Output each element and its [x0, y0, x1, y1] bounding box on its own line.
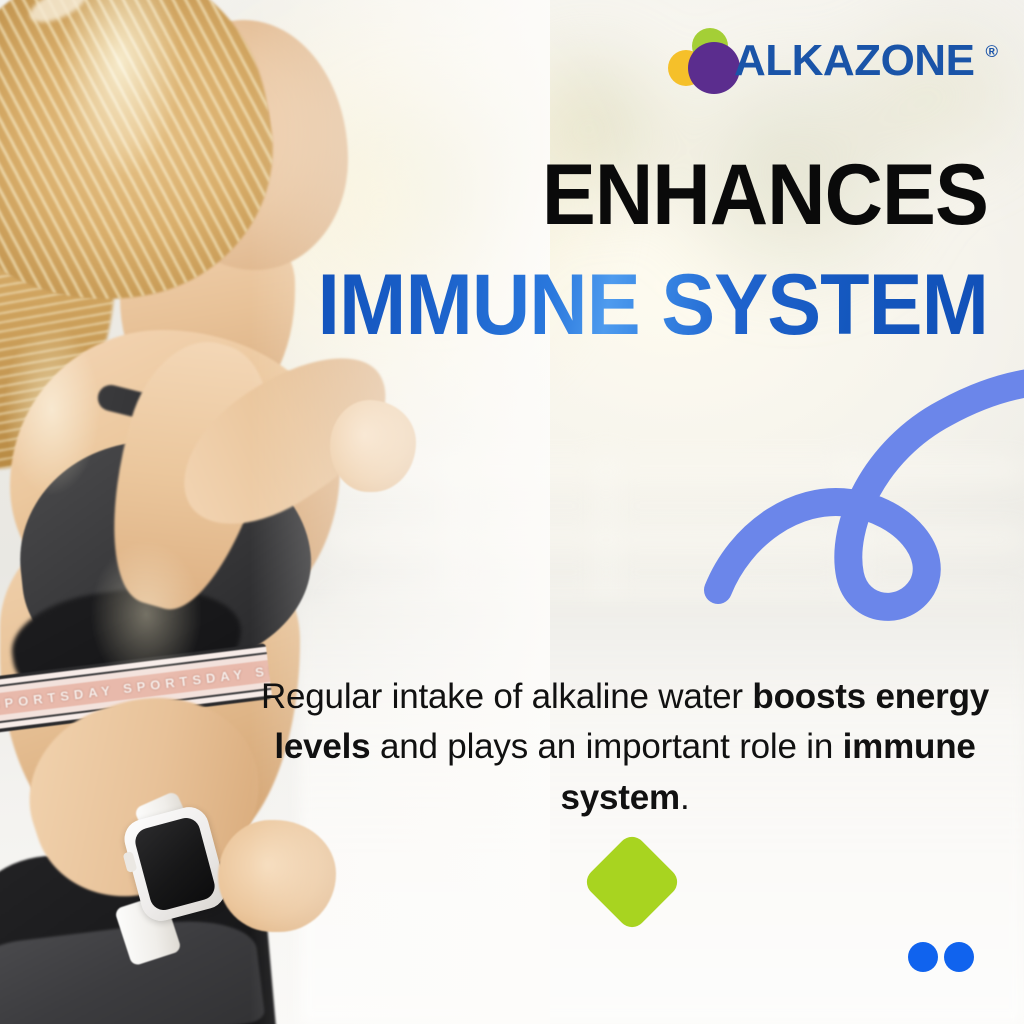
- body-part-3: .: [680, 778, 690, 817]
- hand-lower: [218, 820, 336, 932]
- blue-dot-icon: [944, 942, 974, 972]
- advertisement-canvas: SPORTSDAY SPORTSDAY SPORTSDAY SPORTSDAY …: [0, 0, 1024, 1024]
- decorative-swirl: [700, 355, 1024, 625]
- hand-upper: [330, 400, 416, 492]
- headline-line-1: ENHANCES: [416, 152, 988, 238]
- swirl-icon: [700, 355, 1024, 625]
- fence-post: [598, 450, 614, 625]
- registered-trademark-mark: ®: [985, 42, 998, 62]
- fence-post: [448, 450, 464, 625]
- blue-dots-group: [908, 942, 978, 974]
- logo-wordmark-text: ALKAZONE: [734, 36, 974, 85]
- body-part-1: Regular intake of alkaline water: [261, 677, 752, 716]
- blue-dot-icon: [908, 942, 938, 972]
- headline-line-2: IMMUNE SYSTEM: [285, 262, 988, 348]
- logo-wordmark: ALKAZONE: [734, 36, 974, 86]
- body-part-2: and plays an important role in: [370, 727, 842, 766]
- runner-photo-subject: SPORTSDAY SPORTSDAY SPORTSDAY SPORTSDAY: [0, 0, 430, 1024]
- alkazone-logo[interactable]: ALKAZONE ®: [668, 22, 998, 92]
- body-paragraph: Regular intake of alkaline water boosts …: [228, 672, 1022, 823]
- logo-circle-purple-icon: [688, 42, 740, 94]
